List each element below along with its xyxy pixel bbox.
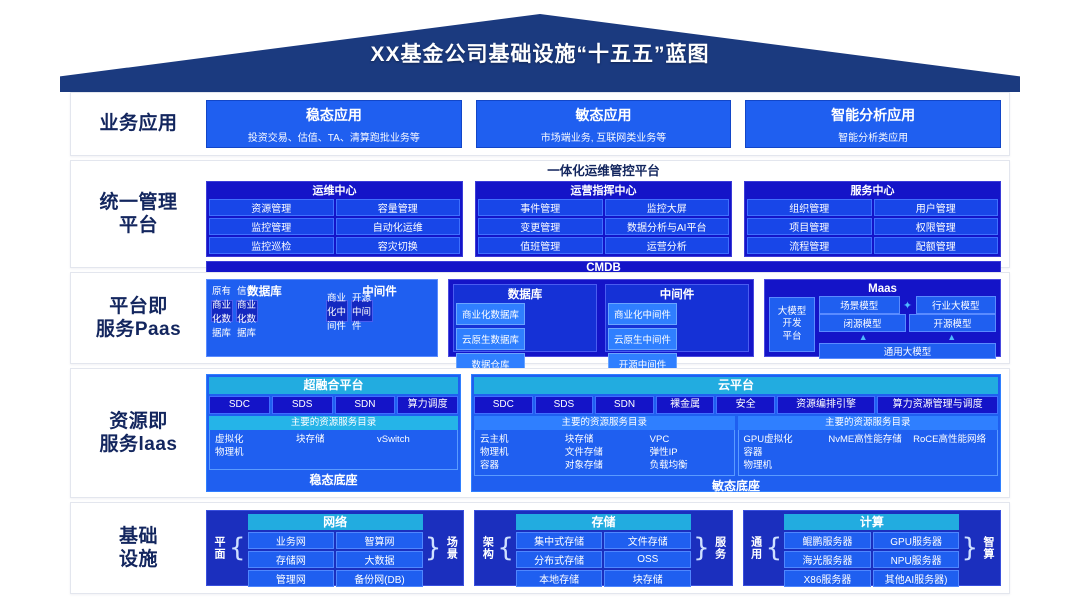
- catalog-item: 对象存储: [565, 459, 644, 472]
- app-card-subtitle: 投资交易、估值、TA、清算跑批业务等: [248, 129, 420, 144]
- row-iaas: 资源即 服务laas 超融合平台 SDC SDS SDN 算力调度 主要的资源服: [70, 368, 1010, 498]
- center-item[interactable]: 值班管理: [478, 237, 603, 254]
- row-label-iaas: 资源即 服务laas: [71, 410, 206, 456]
- center-item[interactable]: 用户管理: [874, 199, 999, 216]
- catalog-title-left: 主要的资源服务目录: [474, 416, 735, 430]
- capability-bare-metal[interactable]: 裸金属: [656, 396, 715, 414]
- capability-compute-resource-mgmt[interactable]: 算力资源管理与调度: [877, 396, 998, 414]
- catalog-item: 块存储: [296, 433, 371, 446]
- page-title: XX基金公司基础设施“十五五”蓝图: [0, 38, 1080, 68]
- row-label-line2: 服务laas: [71, 433, 206, 456]
- brace-left-icon: {: [497, 514, 514, 582]
- row-label-business-applications: 业务应用: [71, 112, 206, 135]
- infra-item[interactable]: 大数据: [336, 551, 423, 568]
- catalog-item: [828, 459, 907, 472]
- row-label-line1: 资源即: [71, 410, 206, 433]
- center-item[interactable]: 资源管理: [209, 199, 334, 216]
- platform-hyperconverged: 超融合平台 SDC SDS SDN 算力调度 主要的资源服务目录 虚拟化 块存储: [206, 374, 461, 492]
- center-item[interactable]: 项目管理: [747, 218, 872, 235]
- infra-item[interactable]: X86服务器: [784, 570, 871, 587]
- app-card-title: 稳态应用: [306, 105, 362, 125]
- center-service: 服务中心 组织管理 用户管理 项目管理 权限管理 流程管理 配额管理: [744, 181, 1001, 257]
- catalog-body-left: 云主机 块存储 VPC 物理机 文件存储 弹性IP 容器 对象存储 负载均衡: [474, 430, 735, 476]
- catalog-item: 文件存储: [565, 446, 644, 459]
- platform-foot-agile: 敏态底座: [474, 478, 998, 495]
- center-item[interactable]: 监控巡检: [209, 237, 334, 254]
- app-card-stable[interactable]: 稳态应用 投资交易、估值、TA、清算跑批业务等: [206, 100, 462, 148]
- capability-sds[interactable]: SDS: [272, 396, 333, 414]
- infra-side-right: 服务: [712, 514, 728, 582]
- center-title: 服务中心: [747, 184, 998, 199]
- capability-sdn[interactable]: SDN: [335, 396, 396, 414]
- catalog-item: GPU虚拟化: [744, 433, 823, 446]
- capability-orchestration-engine[interactable]: 资源编排引擎: [777, 396, 875, 414]
- platform-title: 云平台: [474, 377, 998, 394]
- capability-compute-scheduling[interactable]: 算力调度: [397, 396, 458, 414]
- brace-left-icon: {: [766, 514, 783, 582]
- row-label-line1: 平台即: [71, 295, 206, 318]
- platform-foot-stable: 稳态底座: [209, 472, 458, 489]
- capability-sdc[interactable]: SDC: [209, 396, 270, 414]
- paas-item[interactable]: 信创商业化数据库: [236, 300, 258, 322]
- center-title: 运营指挥中心: [478, 184, 729, 199]
- infra-panel-storage: 架构 { 存储 集中式存储 文件存储 分布式存储 OSS 本地存储 块存储: [474, 510, 732, 586]
- maas-dev-line1: 大模型: [778, 306, 807, 318]
- catalog-item: 块存储: [565, 433, 644, 446]
- center-item[interactable]: 流程管理: [747, 237, 872, 254]
- infra-item[interactable]: 智算网: [336, 532, 423, 549]
- infra-item[interactable]: OSS: [604, 551, 691, 568]
- row-label-line2: 服务Paas: [71, 318, 206, 341]
- paas-box-title: 中间件: [608, 287, 746, 303]
- row-label-paas: 平台即 服务Paas: [71, 295, 206, 341]
- catalog-item: [296, 446, 371, 459]
- center-item[interactable]: 事件管理: [478, 199, 603, 216]
- paas-mw-agile: 中间件 商业化中间件 云原生中间件 开源中间件: [605, 284, 749, 352]
- brace-left-icon: {: [229, 514, 246, 582]
- center-item[interactable]: 监控管理: [209, 218, 334, 235]
- paas-group-agile: 数据库 商业化数据库 云原生数据库 数据仓库 中间件 商业化中间件 云原生中间件…: [448, 279, 754, 357]
- catalog-title-right: 主要的资源服务目录: [738, 416, 999, 430]
- paas-mw-stable: 中间件 商业化中间件 开源中间件: [326, 284, 433, 352]
- infra-side-right: 场景: [443, 514, 459, 582]
- catalog-item: NvME高性能存储: [828, 433, 907, 446]
- infra-item[interactable]: NPU服务器: [873, 551, 960, 568]
- paas-item[interactable]: 商业化数据库: [456, 303, 525, 325]
- plus-icon: ✦: [903, 299, 913, 312]
- maas-general-model[interactable]: 通用大模型: [819, 343, 996, 359]
- maas-title: Maas: [769, 282, 996, 297]
- catalog-body: 虚拟化 块存储 vSwitch 物理机: [209, 430, 458, 470]
- row-label-infrastructure: 基础 设施: [71, 525, 206, 571]
- catalog-item: VPC: [650, 433, 729, 446]
- row-infrastructure: 基础 设施 平面 { 网络 业务网 智算网 存储网 大数据 管理网: [70, 502, 1010, 594]
- infra-item[interactable]: 鲲鹏服务器: [784, 532, 871, 549]
- catalog-item: [377, 446, 452, 459]
- paas-db-stable: 数据库 原有商业化数据库 信创商业化数据库: [211, 284, 318, 352]
- paas-item[interactable]: 原有商业化数据库: [211, 300, 233, 322]
- infra-panel-network: 平面 { 网络 业务网 智算网 存储网 大数据 管理网 备份网(DB): [206, 510, 464, 586]
- infra-item[interactable]: 存储网: [248, 551, 335, 568]
- maas-dev-line3: 平台: [778, 331, 807, 343]
- catalog-body-right: GPU虚拟化 NvME高性能存储 RoCE高性能网络 容器 物理机: [738, 430, 999, 476]
- maas-closed-model[interactable]: 闭源模型: [819, 314, 906, 332]
- maas-dev-platform[interactable]: 大模型 开发 平台: [769, 297, 815, 352]
- center-item[interactable]: 运营分析: [605, 237, 730, 254]
- center-item[interactable]: 容量管理: [336, 199, 461, 216]
- app-card-subtitle: 市场端业务, 互联网类业务等: [541, 129, 667, 144]
- infra-side-right: 智算: [980, 514, 996, 582]
- catalog-item: 容器: [480, 459, 559, 472]
- paas-group-stable: 数据库 原有商业化数据库 信创商业化数据库 中间件 商业化中间件 开源中间件: [206, 279, 438, 357]
- center-item[interactable]: 配额管理: [874, 237, 999, 254]
- center-item[interactable]: 变更管理: [478, 218, 603, 235]
- center-operations-command: 运营指挥中心 事件管理 监控大屏 变更管理 数据分析与AI平台 值班管理 运营分…: [475, 181, 732, 257]
- paas-box-title: 数据库: [456, 287, 594, 303]
- capability-sds[interactable]: SDS: [535, 396, 594, 414]
- center-item[interactable]: 权限管理: [874, 218, 999, 235]
- center-item[interactable]: 数据分析与AI平台: [605, 218, 730, 235]
- arrow-up-icon: ▲: [819, 333, 908, 341]
- infra-panel-compute: 通用 { 计算 鲲鹏服务器 GPU服务器 海光服务器 NPU服务器 X86服务器…: [743, 510, 1001, 586]
- infra-title: 网络: [248, 514, 423, 530]
- center-title: 运维中心: [209, 184, 460, 199]
- infra-item[interactable]: 分布式存储: [516, 551, 603, 568]
- brace-right-icon: }: [693, 514, 710, 582]
- catalog-title: 主要的资源服务目录: [209, 416, 458, 430]
- center-ops: 运维中心 资源管理 容量管理 监控管理 自动化运维 监控巡检 容灾切换: [206, 181, 463, 257]
- center-item[interactable]: 容灾切换: [336, 237, 461, 254]
- capability-sdc[interactable]: SDC: [474, 396, 533, 414]
- infra-item[interactable]: 其他AI服务器): [873, 570, 960, 587]
- app-card-agile[interactable]: 敏态应用 市场端业务, 互联网类业务等: [476, 100, 732, 148]
- catalog-item: [913, 459, 992, 472]
- capability-sdn[interactable]: SDN: [595, 396, 654, 414]
- row-unified-management: 统一管理 平台 一体化运维管控平台 运维中心 资源管理 容量管理 监控管理 自动…: [70, 160, 1010, 268]
- catalog-item: 弹性IP: [650, 446, 729, 459]
- row-label-line1: 统一管理: [71, 191, 206, 214]
- row-business-applications: 业务应用 稳态应用 投资交易、估值、TA、清算跑批业务等 敏态应用 市场端业务,…: [70, 92, 1010, 156]
- catalog-item: vSwitch: [377, 433, 452, 446]
- center-item[interactable]: 监控大屏: [605, 199, 730, 216]
- infra-item[interactable]: 备份网(DB): [336, 570, 423, 587]
- infra-item[interactable]: GPU服务器: [873, 532, 960, 549]
- maas-arrow-row: ▲ ▲: [819, 333, 996, 341]
- row-paas: 平台即 服务Paas 数据库 原有商业化数据库 信创商业化数据库 中间件: [70, 272, 1010, 364]
- infra-side-left: 平面: [211, 514, 227, 582]
- app-card-title: 智能分析应用: [831, 105, 915, 125]
- paas-db-agile: 数据库 商业化数据库 云原生数据库 数据仓库: [453, 284, 597, 352]
- app-card-subtitle: 智能分析类应用: [838, 129, 908, 144]
- paas-item[interactable]: 云原生数据库: [456, 328, 525, 350]
- platform-cloud: 云平台 SDC SDS SDN 裸金属 安全 资源编排引擎 算力资源管理与调度 …: [471, 374, 1001, 492]
- maas-scene-model[interactable]: 场景模型: [819, 296, 900, 314]
- infra-title: 存储: [516, 514, 691, 530]
- catalog-item: 物理机: [215, 446, 290, 459]
- infra-item[interactable]: 管理网: [248, 570, 335, 587]
- paas-item[interactable]: 商业化中间件: [326, 300, 348, 322]
- center-item[interactable]: 自动化运维: [336, 218, 461, 235]
- catalog-item: 云主机: [480, 433, 559, 446]
- paas-item[interactable]: 云原生中间件: [608, 328, 677, 350]
- catalog-item: 虚拟化: [215, 433, 290, 446]
- infra-side-left: 通用: [748, 514, 764, 582]
- row-label-line2: 设施: [71, 548, 206, 571]
- row-label-line1: 基础: [71, 525, 206, 548]
- platform-title: 超融合平台: [209, 377, 458, 394]
- platform-title: 一体化运维管控平台: [206, 164, 1001, 179]
- catalog-item: 物理机: [744, 459, 823, 472]
- blueprint-diagram: XX基金公司基础设施“十五五”蓝图 业务应用 稳态应用 投资交易、估值、TA、清…: [0, 0, 1080, 608]
- catalog-item: 容器: [744, 446, 823, 459]
- paas-item[interactable]: 商业化中间件: [608, 303, 677, 325]
- infra-item[interactable]: 海光服务器: [784, 551, 871, 568]
- arrow-up-icon: ▲: [908, 333, 997, 341]
- catalog-item: RoCE高性能网络: [913, 433, 992, 446]
- infra-item[interactable]: 文件存储: [604, 532, 691, 549]
- paas-item[interactable]: 开源中间件: [351, 300, 373, 322]
- row-label-unified-management: 统一管理 平台: [71, 191, 206, 237]
- infra-item[interactable]: 本地存储: [516, 570, 603, 587]
- maas-industry-model[interactable]: 行业大模型: [916, 296, 997, 314]
- maas-dev-line2: 开发: [778, 318, 807, 330]
- paas-group-maas: Maas 大模型 开发 平台 场景模型 ✦: [764, 279, 1001, 357]
- brace-right-icon: }: [961, 514, 978, 582]
- brace-right-icon: }: [425, 514, 442, 582]
- app-card-title: 敏态应用: [576, 105, 632, 125]
- catalog-item: [828, 446, 907, 459]
- catalog-item: 负载均衡: [650, 459, 729, 472]
- infra-item[interactable]: 集中式存储: [516, 532, 603, 549]
- center-item[interactable]: 组织管理: [747, 199, 872, 216]
- app-card-intelligent-analysis[interactable]: 智能分析应用 智能分析类应用: [745, 100, 1001, 148]
- infra-item[interactable]: 业务网: [248, 532, 335, 549]
- row-label-line2: 平台: [71, 214, 206, 237]
- capability-security[interactable]: 安全: [716, 396, 775, 414]
- maas-open-model[interactable]: 开源模型: [909, 314, 996, 332]
- infra-item[interactable]: 块存储: [604, 570, 691, 587]
- catalog-item: [913, 446, 992, 459]
- infra-title: 计算: [784, 514, 959, 530]
- infra-side-left: 架构: [479, 514, 495, 582]
- catalog-item: 物理机: [480, 446, 559, 459]
- roof-banner: XX基金公司基础设施“十五五”蓝图: [0, 0, 1080, 92]
